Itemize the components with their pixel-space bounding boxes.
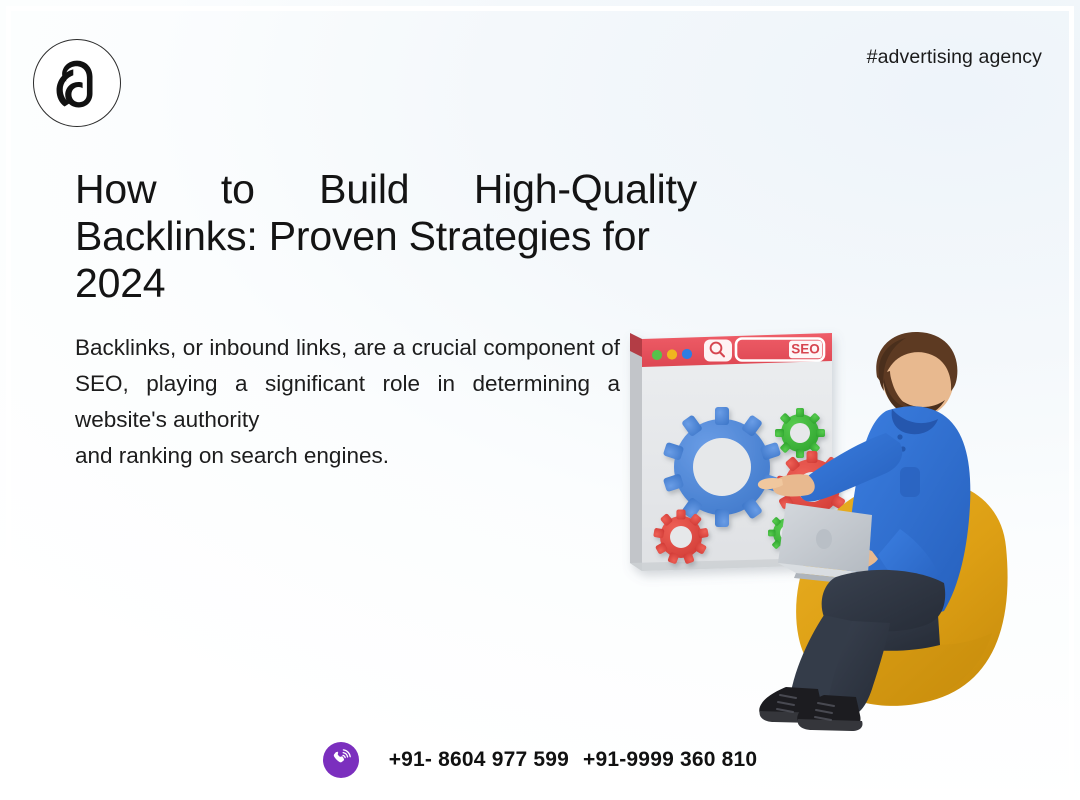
body-line-1: Backlinks, or inbound links, are a cruci… [75, 335, 477, 360]
contact-bar: +91- 8604 977 599+91-9999 360 810 [0, 742, 1080, 778]
poster-canvas: #advertising agency How to Build High-Qu… [0, 0, 1080, 800]
hashtag-label: #advertising agency [867, 46, 1042, 69]
body-paragraph: Backlinks, or inbound links, are a cruci… [75, 330, 620, 474]
phone-number-2[interactable]: +91-9999 360 810 [583, 748, 757, 771]
phone-number-1[interactable]: +91- 8604 977 599 [389, 748, 569, 771]
brand-logo [33, 39, 121, 127]
gear-small-green-top [775, 408, 825, 458]
brand-monogram-icon [46, 52, 108, 114]
headline-line-3: 2024 [75, 260, 697, 307]
body-line-4: and ranking on search engines. [75, 438, 620, 474]
page-title: How to Build High-Quality Backlinks: Pro… [75, 166, 697, 307]
hero-illustration: SEO [600, 315, 1030, 735]
person-head [876, 332, 957, 416]
viber-phone-icon[interactable] [323, 742, 359, 778]
seo-search-text: SEO [791, 342, 820, 357]
phone-numbers: +91- 8604 977 599+91-9999 360 810 [389, 748, 758, 772]
browser-traffic-dots [652, 349, 692, 360]
headline-line-1: How to Build High-Quality [75, 166, 697, 212]
headline-line-2: Backlinks: Proven Strategies for [75, 213, 650, 259]
illustration-svg: SEO [600, 315, 1030, 735]
